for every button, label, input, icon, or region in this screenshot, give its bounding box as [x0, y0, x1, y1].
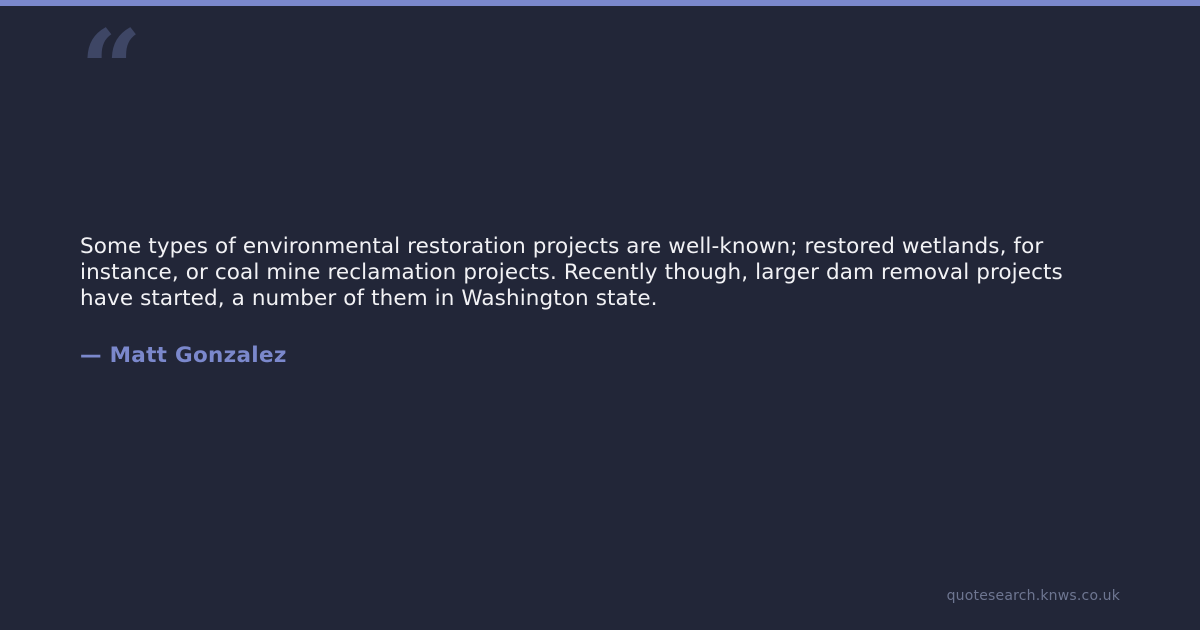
source-url-label: quotesearch.knws.co.uk	[947, 588, 1120, 604]
quote-block: Some types of environmental restoration …	[80, 234, 1120, 368]
quote-attribution: — Matt Gonzalez	[80, 343, 1120, 368]
quote-text: Some types of environmental restoration …	[80, 234, 1120, 312]
footer: quotesearch.knws.co.uk	[947, 585, 1120, 604]
quote-card: “ Some types of environmental restoratio…	[0, 6, 1200, 630]
opening-double-quote-icon: “	[80, 16, 140, 124]
